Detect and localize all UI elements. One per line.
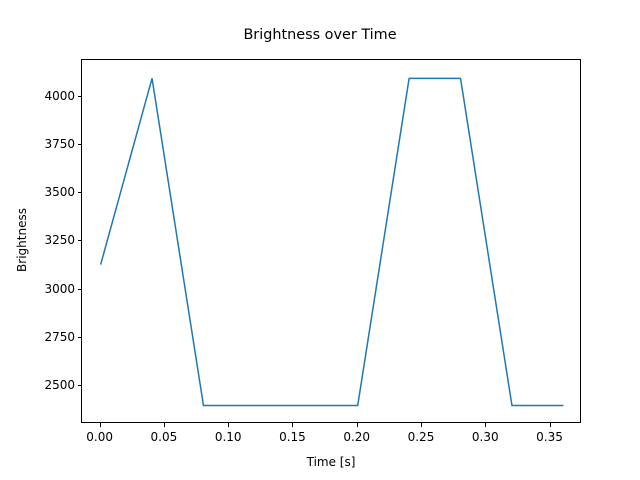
page-title: Brightness over Time (0, 27, 640, 43)
figure-canvas: Brightness over Time Brightness Time [s]… (0, 0, 640, 480)
y-tick-label: 2750 (37, 330, 75, 344)
plot-area (81, 59, 581, 423)
y-tick-label: 4000 (37, 89, 75, 103)
x-tick-label: 0.25 (408, 430, 435, 444)
y-tick-label: 2500 (37, 378, 75, 392)
x-tick-label: 0.30 (472, 430, 499, 444)
x-tick-label: 0.05 (151, 430, 178, 444)
x-tick-label: 0.15 (279, 430, 306, 444)
y-tick-label: 3000 (37, 282, 75, 296)
series-group (101, 78, 564, 405)
y-tick-label: 3750 (37, 137, 75, 151)
x-tick-label: 0.10 (215, 430, 242, 444)
y-tick-label: 3500 (37, 185, 75, 199)
x-tick-label: 0.00 (86, 430, 113, 444)
x-axis-label: Time [s] (307, 455, 356, 469)
y-tick-label: 3250 (37, 233, 75, 247)
x-tick-label: 0.35 (536, 430, 563, 444)
data-line-Brightness (101, 78, 564, 405)
y-axis-label: Brightness (15, 208, 29, 272)
line-chart-svg (82, 60, 582, 424)
x-tick-label: 0.20 (343, 430, 370, 444)
